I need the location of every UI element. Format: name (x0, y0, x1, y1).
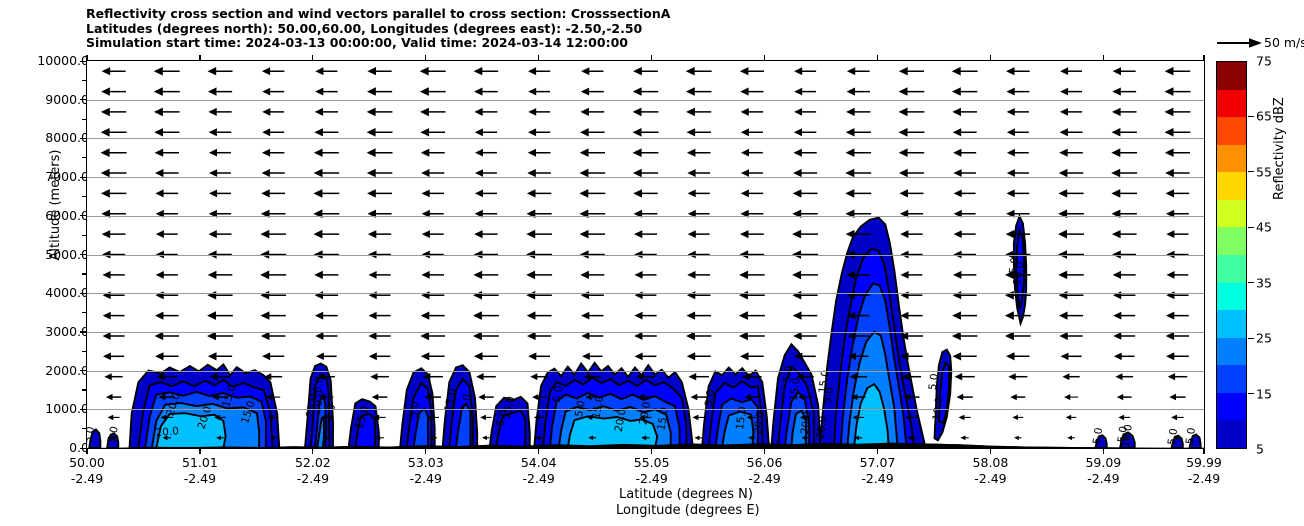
wind-vector-arrowhead (1007, 149, 1015, 157)
wind-vector-arrowhead (1060, 108, 1068, 116)
x-tick-label-latitude: 53.03 (408, 455, 444, 470)
wind-vector-arrowhead (528, 128, 536, 136)
wind-vector-arrowhead (793, 189, 802, 197)
wind-vector-arrowhead (528, 149, 536, 157)
colorbar-tick-mark (1248, 171, 1254, 172)
wind-vector-arrowhead (1113, 67, 1121, 75)
colorbar-tick-mark (1248, 282, 1254, 283)
y-axis-label: Altitude (meters) (2, 195, 22, 215)
wind-vector-arrowhead (1058, 271, 1067, 280)
wind-vector-arrowhead (1007, 108, 1015, 116)
wind-vector-arrowhead (104, 373, 111, 380)
cross-section-plot[interactable]: 5.05.020.020.020.015.015.05.020.025.05.0… (86, 60, 1205, 449)
x-tick-label-latitude: 50.00 (69, 455, 105, 470)
wind-vector-arrowhead (528, 353, 536, 361)
x-tick-mark-top (425, 55, 426, 61)
wind-vector-arrowhead (633, 87, 642, 96)
x-tick-mark (199, 448, 200, 454)
wind-vector-arrowhead (793, 311, 802, 319)
title-line-2: Latitudes (degrees north): 50.00,60.00, … (86, 22, 1196, 37)
wind-vector-arrowhead (262, 88, 270, 96)
x-tick-label-latitude: 59.09 (1085, 455, 1121, 470)
wind-vector-arrowhead (103, 312, 111, 320)
wind-vector-arrowhead (741, 149, 749, 157)
wind-vector-arrowhead (1166, 352, 1174, 360)
wind-vector-arrowhead (634, 230, 642, 238)
wind-vector-arrowhead (367, 169, 376, 178)
colorbar-tick-label: 5 (1256, 442, 1264, 457)
wind-vector-arrowhead (261, 189, 270, 197)
wind-vector-arrowhead (899, 189, 908, 197)
wind-vector-arrowhead (154, 67, 163, 76)
wind-vector-arrowhead (476, 373, 484, 380)
wind-vector-arrowhead (1060, 128, 1068, 136)
colorbar-band (1217, 145, 1246, 173)
colorbar-band (1217, 90, 1246, 118)
wind-vector-arrowhead (422, 271, 430, 279)
wind-vector-arrowhead (260, 291, 269, 300)
x-tick-mark (1103, 448, 1104, 454)
wind-vector-arrowhead (207, 311, 216, 320)
x-tick-mark (877, 448, 878, 454)
wind-vector-arrowhead (1006, 230, 1015, 238)
wind-vector-arrowhead (693, 415, 699, 421)
wind-vector-arrowhead (530, 373, 537, 380)
gridline (87, 100, 1204, 101)
wind-vector-arrowhead (482, 436, 487, 441)
wind-vector-arrowhead (953, 169, 961, 177)
x-tick-mark (651, 448, 652, 454)
wind-vector-arrowhead (528, 88, 536, 96)
x-tick-mark (990, 448, 991, 454)
wind-vector-arrowhead (532, 394, 538, 400)
wind-vector-arrowhead (155, 332, 164, 340)
wind-vector-arrowhead (846, 108, 855, 116)
wind-vector-arrowhead (367, 87, 376, 96)
wind-vector-arrowhead (1006, 88, 1014, 96)
wind-vector-arrowhead (370, 373, 377, 380)
wind-vector-arrowhead (740, 88, 748, 96)
wind-vector-arrowhead (740, 67, 749, 75)
wind-vector-arrowhead (155, 189, 163, 197)
x-tick-label-latitude: 58.08 (973, 455, 1009, 470)
wind-vector-arrowhead (901, 271, 909, 279)
wind-vector-arrowhead (792, 271, 801, 280)
wind-vector-arrowhead (900, 230, 908, 238)
colorbar-band (1217, 200, 1246, 228)
wind-vector-arrowhead (314, 128, 323, 136)
wind-vector-arrowhead (794, 88, 802, 96)
wind-vector-arrowhead (581, 67, 589, 75)
wind-vector-arrowhead (954, 190, 962, 198)
wind-vector-arrowhead (579, 169, 588, 178)
wind-vector-arrowhead (899, 87, 908, 96)
wind-vector-arrowhead (793, 332, 802, 340)
wind-vector-arrowhead (899, 67, 908, 75)
wind-vector-arrowhead (1005, 332, 1014, 341)
wind-vector-arrowhead (1165, 128, 1174, 137)
wind-vector-arrowhead (478, 394, 485, 400)
wind-vector-arrowhead (154, 87, 163, 96)
wind-vector-arrowhead (581, 312, 589, 320)
wind-vector-arrowhead (1111, 148, 1120, 157)
arrow-right-icon (1216, 34, 1264, 52)
wind-vector-arrowhead (369, 312, 377, 320)
wind-vector-arrowhead (367, 148, 376, 157)
wind-vector-arrowhead (635, 353, 643, 361)
wind-vector-arrowhead (1165, 67, 1174, 76)
wind-vector-arrowhead (1118, 415, 1124, 421)
wind-vector-arrowhead (420, 332, 429, 340)
wind-vector-arrowhead (314, 230, 323, 239)
wind-vector-arrowhead (633, 108, 642, 117)
wind-vector-arrowhead (792, 230, 801, 239)
x-tick-label-latitude: 55.05 (634, 455, 670, 470)
colorbar-band (1217, 283, 1246, 311)
wind-vector-arrowhead (952, 311, 961, 319)
wind-vector-arrowhead (695, 436, 700, 441)
title-line-1: Reflectivity cross section and wind vect… (86, 7, 1196, 22)
colorbar-tick-label: 55 (1256, 164, 1272, 179)
wind-vector-arrowhead (846, 148, 855, 157)
x-tick-mark-top (538, 55, 539, 61)
wind-vector-arrowhead (367, 189, 376, 197)
wind-vector-arrowhead (209, 230, 217, 238)
wind-vector-arrowhead (961, 436, 966, 441)
contour-label: 5.0 (927, 373, 941, 391)
colorbar-band (1217, 255, 1246, 283)
wind-vector-arrowhead (369, 353, 377, 361)
colorbar-title-text: Reflectivity dBZ (1272, 97, 1287, 200)
wind-vector-arrowhead (1059, 312, 1068, 320)
wind-vector-arrowhead (155, 169, 163, 177)
wind-vector-arrowhead (953, 271, 961, 279)
wind-vector-arrowhead (108, 415, 114, 421)
wind-vector-arrowhead (686, 67, 695, 76)
x-tick-mark-top (86, 55, 87, 61)
wind-vector-arrowhead (475, 190, 483, 198)
gridline (87, 371, 1204, 372)
wind-vector-arrowhead (368, 332, 376, 340)
x-tick-label-longitude: -2.49 (1188, 471, 1220, 486)
wind-vector-arrowhead (474, 67, 483, 75)
wind-vector-arrowhead (633, 128, 642, 137)
wind-vector-arrowhead (1165, 169, 1174, 177)
wind-vector-arrowhead (208, 108, 216, 116)
x-tick-label-latitude: 59.99 (1186, 455, 1222, 470)
wind-vector-arrowhead (314, 271, 323, 279)
wind-vector-arrowhead (367, 108, 376, 117)
x-tick-mark (86, 448, 87, 454)
wind-vector-arrowhead (953, 128, 962, 136)
wind-vector-arrowhead (1007, 169, 1015, 177)
colorbar-tick-label: 45 (1256, 220, 1272, 235)
gridline (87, 409, 1204, 410)
wind-vector-arrowhead (1059, 332, 1067, 340)
wind-vector-arrowhead (313, 189, 322, 198)
wind-vector-arrowhead (741, 169, 749, 177)
wind-vector-arrowhead (316, 353, 324, 360)
wind-vector-arrowhead (634, 332, 642, 340)
wind-vector-arrowhead (847, 88, 855, 96)
wind-vector-arrowhead (1059, 149, 1068, 157)
wind-vector-arrowhead (372, 394, 379, 400)
wind-vector-arrowhead (421, 352, 430, 360)
wind-vector-arrowhead (580, 230, 589, 239)
page-title: Reflectivity cross section and wind vect… (86, 7, 1196, 51)
wind-vector-arrowhead (1007, 189, 1015, 197)
x-tick-label-longitude: -2.49 (410, 471, 442, 486)
wind-vector-arrowhead (1014, 436, 1019, 441)
wind-vector-arrowhead (686, 87, 695, 96)
wind-vector-arrowhead (794, 128, 802, 136)
wind-vector-arrowhead (687, 128, 696, 136)
colorbar-tick-mark (1248, 393, 1254, 394)
wind-vector-arrowhead (315, 332, 323, 340)
wind-vector-arrowhead (952, 87, 961, 96)
wind-vector-arrowhead (1171, 415, 1177, 421)
wind-vector-arrowhead (101, 169, 110, 178)
wind-vector-arrowhead (580, 271, 589, 279)
wind-vector-arrowhead (1112, 88, 1121, 96)
wind-vector-arrowhead (1061, 353, 1069, 361)
wind-vector-arrowhead (208, 271, 217, 279)
x-tick-mark-top (990, 55, 991, 61)
wind-vector-arrowhead (794, 108, 802, 116)
wind-vector-arrowhead (581, 88, 589, 96)
wind-vector-arrowhead (1005, 311, 1014, 320)
wind-vector-arrowhead (262, 128, 270, 136)
wind-vector-arrowhead (473, 311, 482, 320)
wind-vector-arrowhead (421, 312, 430, 320)
wind-vector-arrowhead (1166, 312, 1174, 320)
wind-vector-arrowhead (474, 88, 483, 96)
wind-vector-arrowhead (262, 169, 270, 177)
x-axis-label-latitude: Latitude (degrees N) (619, 487, 753, 502)
wind-vector-arrowhead (635, 271, 643, 279)
contour-label: 5.0 (703, 389, 717, 407)
wind-vector-arrowhead (582, 353, 590, 360)
contour-label: 5.0 (822, 386, 836, 404)
wind-vector-arrowhead (1115, 373, 1122, 380)
wind-vector-arrowhead (1058, 210, 1067, 219)
wind-vector-arrowhead (262, 352, 270, 360)
wind-vector-arrowhead (106, 394, 113, 400)
wind-vector-arrowhead (686, 108, 695, 116)
wind-vector-arrowhead (475, 169, 483, 177)
colorbar-band (1217, 365, 1246, 393)
x-tick-mark-top (764, 55, 765, 61)
wind-vector-arrowhead (1113, 312, 1121, 320)
wind-vector-arrowhead (952, 67, 961, 76)
wind-vector-arrowhead (1007, 128, 1015, 136)
colorbar-tick-label: 65 (1256, 109, 1272, 124)
wind-vector-arrowhead (101, 128, 110, 137)
wind-vector-arrowhead (581, 332, 589, 340)
wind-vector-arrowhead (1111, 189, 1120, 198)
wind-vector-arrowhead (1112, 128, 1121, 137)
wind-vector-arrowhead (474, 230, 482, 238)
wind-vector-arrowhead (260, 230, 269, 239)
wind-vector-arrowhead (528, 108, 536, 116)
wind-vector-arrowhead (315, 312, 323, 320)
colorbar-band (1217, 172, 1246, 200)
wind-vector-arrowhead (315, 108, 323, 116)
x-tick-label-longitude: -2.49 (71, 471, 103, 486)
wind-vector-arrowhead (526, 271, 535, 280)
wind-vector-arrowhead (959, 415, 965, 421)
wind-vector-arrowhead (634, 312, 642, 320)
wind-vector-arrowhead (633, 67, 642, 75)
wind-vector-arrowhead (527, 169, 536, 177)
colorbar-tick-label: 35 (1256, 275, 1272, 290)
wind-vector-arrowhead (1114, 353, 1122, 361)
x-tick-label-longitude: -2.49 (297, 471, 329, 486)
y-axis-label-text: Altitude (meters) (48, 150, 63, 261)
x-tick-label-latitude: 54.04 (521, 455, 557, 470)
x-tick-mark (764, 448, 765, 454)
wind-vector-arrowhead (261, 332, 270, 340)
x-tick-mark (538, 448, 539, 454)
wind-vector-arrowhead (687, 271, 695, 279)
wind-vector-arrowhead (579, 210, 588, 219)
wind-vector-arrowhead (1113, 332, 1121, 340)
x-tick-label-longitude: -2.49 (635, 471, 667, 486)
x-tick-mark-top (199, 55, 200, 61)
x-tick-label-latitude: 57.07 (860, 455, 896, 470)
wind-vector-arrowhead (1112, 230, 1121, 238)
wind-vector-arrowhead (262, 108, 270, 116)
x-tick-label-longitude: -2.49 (748, 471, 780, 486)
title-line-3: Simulation start time: 2024-03-13 00:00:… (86, 36, 1196, 51)
gridline (87, 293, 1204, 294)
colorbar-tick-mark (1248, 338, 1254, 339)
colorbar-tick-label: 15 (1256, 386, 1272, 401)
wind-vector-arrowhead (1166, 189, 1174, 197)
colorbar-band (1217, 310, 1246, 338)
gridline (87, 177, 1204, 178)
wind-vector-arrowhead (209, 190, 217, 198)
wind-vector-arrowhead (103, 332, 111, 340)
wind-vector-arrowhead (686, 332, 695, 341)
wind-vector-arrowhead (1059, 169, 1068, 177)
wind-vector-arrowhead (1066, 415, 1072, 420)
wind-vector-arrowhead (952, 332, 961, 341)
colorbar-band (1217, 117, 1246, 145)
wind-vector-arrowhead (1111, 169, 1120, 178)
wind-vector-arrowhead (1060, 67, 1068, 75)
wind-vector-arrowhead (739, 332, 748, 341)
wind-vector-arrowhead (262, 149, 270, 157)
wind-vector-arrowhead (633, 169, 642, 178)
gridline (87, 216, 1204, 217)
wind-vector-arrowhead (526, 230, 535, 239)
colorbar-title: Reflectivity dBZ (1272, 200, 1292, 220)
wind-vector-arrowhead (208, 67, 217, 75)
wind-vector-arrowhead (367, 67, 376, 75)
wind-vector-arrowhead (480, 415, 486, 421)
wind-vector-arrowhead (422, 230, 430, 238)
wind-vector-arrowhead (1067, 436, 1072, 441)
wind-vector-arrowhead (1166, 230, 1174, 238)
wind-vector-arrowhead (156, 230, 164, 238)
colorbar-band (1217, 338, 1246, 366)
wind-vector-arrowhead (475, 149, 483, 157)
wind-vector-arrowhead (794, 149, 802, 157)
wind-vector-arrowhead (208, 352, 217, 360)
wind-vector-arrowhead (527, 332, 536, 340)
wind-vector-arrowhead (1112, 108, 1121, 116)
x-tick-mark (1203, 448, 1204, 454)
wind-vector-arrowhead (369, 271, 377, 279)
wind-vector-arrowhead (580, 128, 589, 136)
wind-vector-arrowhead (1008, 373, 1015, 380)
wind-vector-arrowhead (579, 189, 588, 198)
wind-vector-arrowhead (103, 353, 111, 361)
wind-vector-arrowhead (687, 169, 695, 177)
colorbar-tick-label: 25 (1256, 331, 1272, 346)
wind-vector-arrowhead (739, 291, 748, 300)
wind-vector-arrowhead (953, 352, 962, 360)
x-tick-mark-top (651, 55, 652, 61)
wind-vector-arrowhead (953, 149, 961, 157)
wind-vector-arrowhead (1169, 394, 1176, 401)
wind-vector-arrowhead (741, 190, 749, 198)
wind-vector-arrowhead (1058, 230, 1067, 239)
wind-vector-arrowhead (420, 67, 429, 76)
wind-vector-arrowhead (1164, 108, 1173, 117)
wind-vector-arrowhead (687, 149, 696, 157)
wind-vector-arrowhead (315, 67, 323, 75)
wind-vector-arrowhead (899, 148, 908, 157)
wind-vector-arrowhead (955, 373, 963, 380)
wind-vector-arrowhead (1113, 271, 1121, 279)
wind-vector-arrowhead (899, 108, 908, 117)
wind-vector-arrowhead (741, 128, 749, 136)
wind-vector-arrowhead (209, 128, 217, 136)
wind-vector-arrowhead (741, 108, 749, 116)
colorbar[interactable] (1216, 61, 1247, 449)
colorbar-band (1217, 420, 1246, 448)
wind-vector-arrowhead (689, 373, 697, 380)
colorbar-tick-mark (1248, 227, 1254, 228)
colorbar-tick-mark (1248, 116, 1254, 117)
x-tick-mark-top (1103, 55, 1104, 61)
x-axis-label-longitude: Longitude (degrees E) (616, 503, 760, 518)
wind-vector-arrowhead (899, 169, 908, 177)
contour-label: 5.0 (1091, 427, 1105, 445)
wind-vector-arrowhead (793, 169, 802, 177)
gridline (87, 138, 1204, 139)
wind-vector-arrowhead (474, 108, 482, 116)
wind-vector-arrowhead (367, 128, 376, 137)
x-tick-mark-top (1203, 55, 1204, 61)
wind-vector-arrowhead (846, 128, 855, 136)
wind-vector-arrowhead (1064, 394, 1070, 400)
wind-vector-arrowhead (688, 230, 696, 238)
wind-vector-arrowhead (633, 148, 642, 157)
wind-vector-arrowhead (687, 312, 696, 320)
wind-vector-arrowhead (954, 230, 962, 238)
wind-vector-arrowhead (688, 190, 696, 198)
wind-vector-arrowhead (845, 169, 854, 178)
wind-vector-arrowhead (155, 352, 163, 360)
wind-vector-arrowhead (208, 87, 217, 95)
wind-vector-arrowhead (1010, 394, 1016, 400)
wind-vector-arrowhead (156, 271, 164, 279)
wind-vector-arrowhead (580, 148, 589, 157)
x-tick-mark (312, 448, 313, 454)
